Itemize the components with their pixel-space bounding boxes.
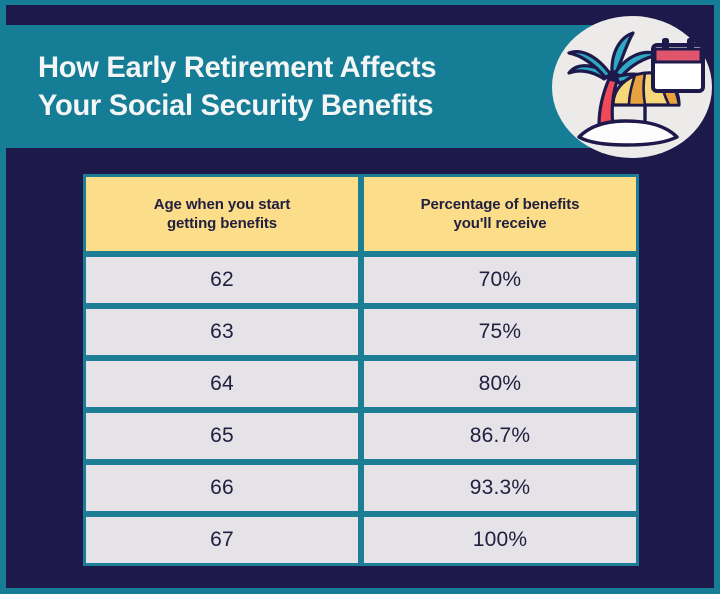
table-row: 66 93.3% <box>83 462 639 514</box>
cell-percentage: 93.3% <box>361 462 639 514</box>
cell-percentage: 100% <box>361 514 639 566</box>
column-header-age-line-1: Age when you start <box>96 195 348 214</box>
cell-percentage: 86.7% <box>361 410 639 462</box>
table-row: 67 100% <box>83 514 639 566</box>
infographic-board: How Early Retirement Affects Your Social… <box>6 5 714 588</box>
cell-age: 65 <box>83 410 361 462</box>
page-title-line-2: Your Social Security Benefits <box>38 87 633 125</box>
cell-age: 62 <box>83 254 361 306</box>
cell-age: 66 <box>83 462 361 514</box>
page-title-line-1: How Early Retirement Affects <box>38 49 633 87</box>
cell-percentage: 75% <box>361 306 639 358</box>
table-header: Age when you start getting benefits Perc… <box>83 174 639 254</box>
table-body: 62 70% 63 75% 64 80% 65 86.7% 66 93.3% <box>83 254 639 566</box>
column-header-percentage-line-1: Percentage of benefits <box>374 195 626 214</box>
cell-percentage: 80% <box>361 358 639 410</box>
infographic-root: How Early Retirement Affects Your Social… <box>0 0 720 594</box>
column-header-percentage-line-2: you'll receive <box>374 214 626 233</box>
column-header-percentage: Percentage of benefits you'll receive <box>361 174 639 254</box>
column-header-age: Age when you start getting benefits <box>83 174 361 254</box>
table-row: 65 86.7% <box>83 410 639 462</box>
benefits-table: Age when you start getting benefits Perc… <box>83 174 639 566</box>
beach-retirement-badge <box>549 13 715 161</box>
cell-age: 63 <box>83 306 361 358</box>
table-row: 62 70% <box>83 254 639 306</box>
table-header-row: Age when you start getting benefits Perc… <box>83 174 639 254</box>
cell-age: 64 <box>83 358 361 410</box>
calendar-icon <box>653 38 703 91</box>
table-row: 63 75% <box>83 306 639 358</box>
cell-percentage: 70% <box>361 254 639 306</box>
table-row: 64 80% <box>83 358 639 410</box>
cell-age: 67 <box>83 514 361 566</box>
column-header-age-line-2: getting benefits <box>96 214 348 233</box>
